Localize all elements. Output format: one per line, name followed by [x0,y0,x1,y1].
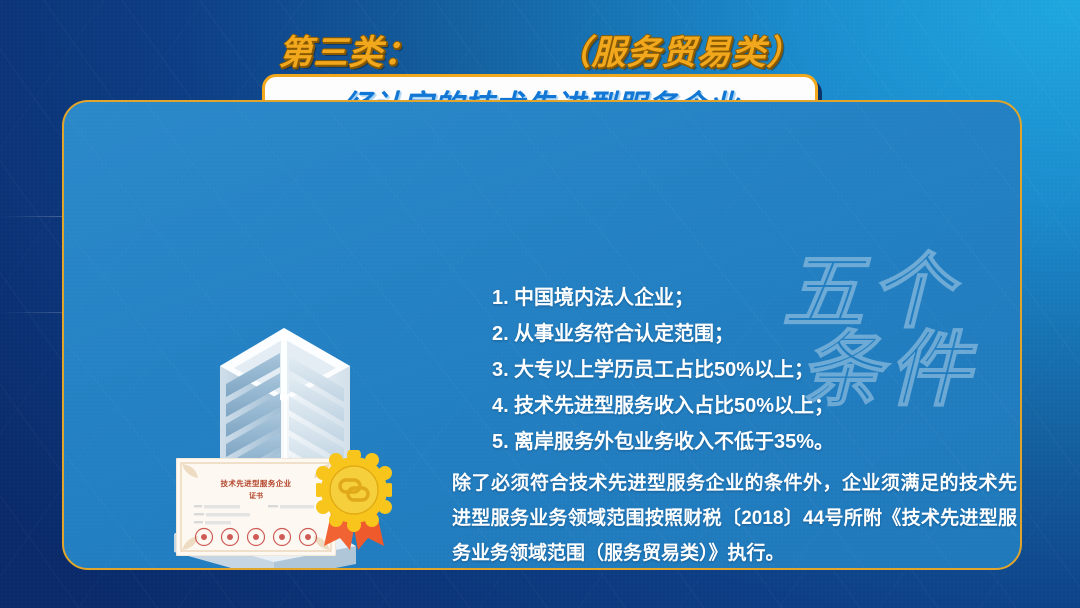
list-item: 4.技术先进型服务收入占比50%以上； [492,388,1022,424]
note-paragraph: 除了必须符合技术先进型服务企业的条件外，企业须满足的技术先进型服务业务领域范围按… [452,466,1017,570]
content-panel: 五个 条件 [62,100,1022,570]
list-item-text: 中国境内法人企业； [514,287,694,309]
list-item-number: 3. [492,352,514,388]
certificate-illustration: 技术先进型服务企业 证书 [176,458,336,556]
list-item-number: 4. [492,388,514,424]
list-item-number: 2. [492,316,514,352]
list-item-text: 离岸服务外包业务收入不低于35%。 [514,431,834,453]
list-item-text: 大专以上学历员工占比50%以上； [514,359,814,381]
certificate-svg [176,458,336,556]
list-item-number: 1. [492,280,514,316]
certificate-title: 技术先进型服务企业 [176,478,336,489]
list-item: 5.离岸服务外包业务收入不低于35%。 [492,424,1022,460]
list-item-text: 从事业务符合认定范围； [514,323,734,345]
list-item: 1.中国境内法人企业； [492,280,1022,316]
list-item: 3.大专以上学历员工占比50%以上； [492,352,1022,388]
list-item-text: 技术先进型服务收入占比50%以上； [514,395,834,417]
list-item-number: 5. [492,424,514,460]
conditions-list: 1.中国境内法人企业； 2.从事业务符合认定范围； 3.大专以上学历员工占比50… [452,280,1022,460]
list-item: 2.从事业务符合认定范围； [492,316,1022,352]
medal-svg [316,450,392,554]
infographic-slide: 第三类： （服务贸易类） 经认定的技术先进型服务企业 五个 条件 [0,0,1080,608]
award-medal-illustration [316,450,392,554]
certificate-subtitle: 证书 [176,491,336,501]
